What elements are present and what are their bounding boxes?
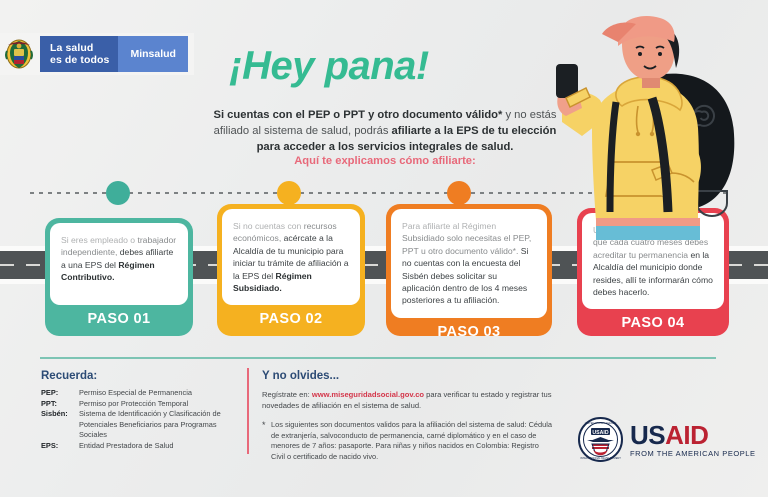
usaid-logo: USAID UNITED STATES AGENCY INTERNATIONAL… [578, 417, 756, 462]
step-card-1[interactable]: Si eres empleado o trabajador independie… [45, 218, 193, 336]
register-paragraph: Regístrate en: www.miseguridadsocial.gov… [262, 389, 552, 411]
usaid-word-aid: AID [665, 420, 708, 450]
glossary-item: PPT: Permiso por Protección Temporal [41, 399, 241, 410]
infographic-page: La salud es de todos Minsalud ¡Hey pana!… [0, 0, 768, 497]
glossary-item: EPS: Entidad Prestadora de Salud [41, 441, 241, 452]
timeline-node-2 [277, 181, 301, 205]
glossary-item: Sisbén: Sistema de Identificación y Clas… [41, 409, 241, 441]
footer-vertical-divider [247, 368, 249, 454]
glossary-term: EPS: [41, 441, 79, 452]
footnote-star-icon: * [262, 420, 271, 462]
glossary-term: PEP: [41, 388, 79, 399]
hero-cta: Aquí te explicamos cómo afiliarte: [150, 155, 620, 167]
olvides-section: Y no olvides... Regístrate en: www.miseg… [262, 370, 552, 462]
subtitle-strong-1: Si cuentas con el PEP o PPT y otro docum… [214, 109, 503, 121]
step-2-faded-1: Si no cuentas con [233, 221, 301, 231]
hero-subtitle: Si cuentas con el PEP o PPT y otro docum… [150, 107, 620, 155]
svg-text:INTERNATIONAL DEVELOPMENT: INTERNATIONAL DEVELOPMENT [580, 456, 621, 460]
glossary-definition: Permiso Especial de Permanencia [79, 388, 241, 399]
step-card-2-label: PASO 02 [222, 305, 360, 336]
step-card-2-body: Si no cuentas con recursos económicos, a… [222, 209, 360, 305]
usaid-word-us: US [630, 420, 665, 450]
subtitle-rest-2: afiliado al sistema de salud, podrás [214, 125, 392, 137]
register-prefix: Regístrate en: [262, 390, 312, 399]
svg-text:USAID: USAID [592, 430, 608, 436]
step-card-1-label: PASO 01 [50, 305, 188, 336]
footer-horizontal-divider [40, 357, 716, 359]
footnote: * Los siguientes son documentos validos … [262, 420, 552, 462]
glossary-list: PEP: Permiso Especial de Permanencia PPT… [41, 388, 241, 451]
usaid-wordmark-row: USAID [630, 422, 756, 448]
timeline-node-1 [106, 181, 130, 205]
step-card-3-body: Para afiliarte al Régimen Subsidiado sol… [391, 209, 547, 318]
glossary-definition: Entidad Prestadora de Salud [79, 441, 241, 452]
timeline-node-3 [447, 181, 471, 205]
step-1-faded-1: Si eres empleado o [61, 235, 135, 245]
usaid-wordmark: USAID FROM THE AMERICAN PEOPLE [630, 422, 756, 458]
glossary-term: Sisbén: [41, 409, 79, 441]
step-card-2[interactable]: Si no cuentas con recursos económicos, a… [217, 204, 365, 336]
recuerda-heading: Recuerda: [41, 370, 241, 382]
usaid-seal-icon: USAID UNITED STATES AGENCY INTERNATIONAL… [578, 417, 623, 462]
person-with-phone-backpack-illustration [556, 12, 768, 244]
usaid-tagline: FROM THE AMERICAN PEOPLE [630, 450, 756, 458]
glossary-definition: Sistema de Identificación y Clasificació… [79, 409, 241, 441]
glossary-item: PEP: Permiso Especial de Permanencia [41, 388, 241, 399]
step-card-3[interactable]: Para afiliarte al Régimen Subsidiado sol… [386, 204, 552, 336]
step-card-4-label: PASO 04 [582, 309, 724, 340]
olvides-heading: Y no olvides... [262, 370, 552, 382]
glossary-definition: Permiso por Protección Temporal [79, 399, 241, 410]
subtitle-rest-1: y no estás [502, 109, 556, 121]
footnote-text: Los siguientes son documentos validos pa… [271, 420, 552, 462]
step-card-1-body: Si eres empleado o trabajador independie… [50, 223, 188, 305]
subtitle-strong-2: afiliarte a la EPS de tu elección [392, 125, 557, 137]
step-3-faded-2: Subsidiado solo necesitas el PEP, PPT u … [402, 233, 531, 255]
register-url-link[interactable]: www.miseguridadsocial.gov.co [312, 390, 424, 399]
step-3-faded-1: Para afiliarte al Régimen [402, 221, 496, 231]
glossary-term: PPT: [41, 399, 79, 410]
step-card-3-label: PASO 03 [391, 318, 547, 349]
subtitle-strong-3: para acceder a los servicios integrales … [257, 141, 514, 153]
recuerda-section: Recuerda: PEP: Permiso Especial de Perma… [41, 370, 241, 451]
svg-text:UNITED STATES AGENCY: UNITED STATES AGENCY [585, 421, 617, 425]
